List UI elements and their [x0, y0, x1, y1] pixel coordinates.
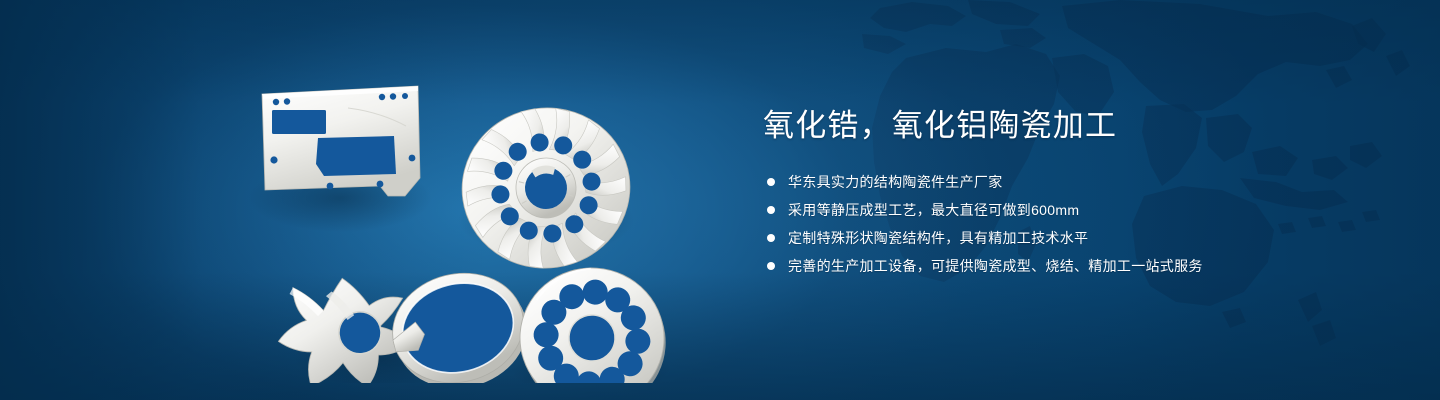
- list-item: 采用等静压成型工艺，最大直径可做到600mm: [763, 200, 1383, 220]
- list-item: 定制特殊形状陶瓷结构件，具有精加工技术水平: [763, 228, 1383, 248]
- ceramic-perforated-flange-shape: [515, 263, 671, 383]
- bullet-dot-icon: [767, 206, 775, 214]
- list-item-label: 华东具实力的结构陶瓷件生产厂家: [788, 172, 1003, 192]
- ceramic-products-hero-banner: 氧化锆，氧化铝陶瓷加工 华东具实力的结构陶瓷件生产厂家 采用等静压成型工艺，最大…: [0, 0, 1440, 400]
- bullet-dot-icon: [767, 178, 775, 186]
- ceramic-products-image: [230, 38, 690, 383]
- list-item-label: 采用等静压成型工艺，最大直径可做到600mm: [788, 200, 1079, 220]
- list-item: 完善的生产加工设备，可提供陶瓷成型、烧结、精加工一站式服务: [763, 256, 1383, 276]
- ceramic-base-plate-shape: [262, 86, 420, 196]
- ceramic-impeller-disc-shape: [452, 97, 641, 279]
- bullet-dot-icon: [767, 262, 775, 270]
- marketing-copy-block: 氧化锆，氧化铝陶瓷加工 华东具实力的结构陶瓷件生产厂家 采用等静压成型工艺，最大…: [763, 106, 1383, 284]
- bullet-dot-icon: [767, 234, 775, 242]
- page-title: 氧化锆，氧化铝陶瓷加工: [763, 106, 1383, 146]
- list-item: 华东具实力的结构陶瓷件生产厂家: [763, 172, 1383, 192]
- feature-bullet-list: 华东具实力的结构陶瓷件生产厂家 采用等静压成型工艺，最大直径可做到600mm 定…: [763, 172, 1383, 276]
- list-item-label: 定制特殊形状陶瓷结构件，具有精加工技术水平: [788, 228, 1088, 248]
- list-item-label: 完善的生产加工设备，可提供陶瓷成型、烧结、精加工一站式服务: [788, 256, 1203, 276]
